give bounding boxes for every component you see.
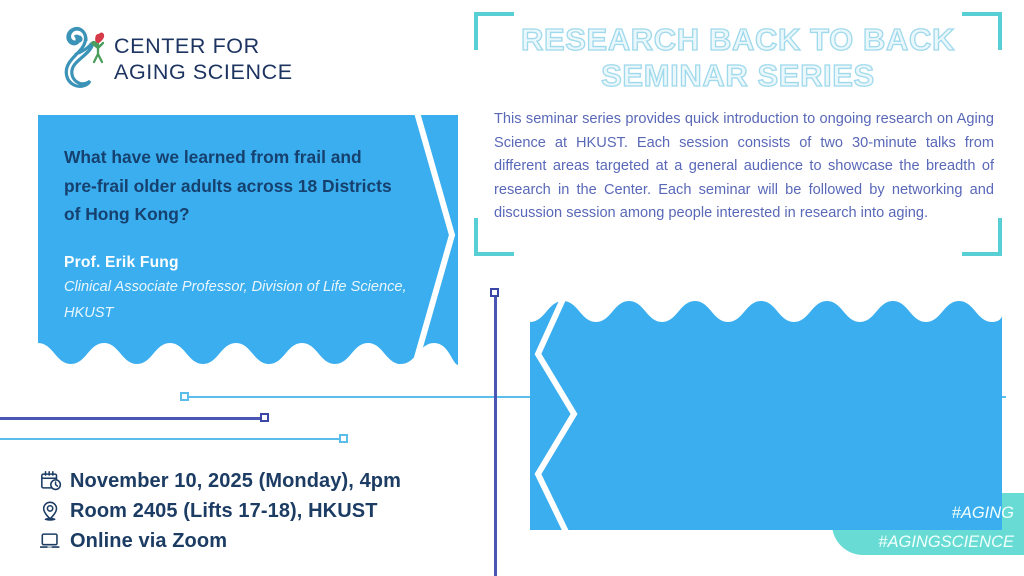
- event-online-text: Online via Zoom: [70, 530, 227, 553]
- hashtag-line-2: #AGINGSCIENCE: [832, 528, 1014, 557]
- event-detail-online: Online via Zoom: [40, 526, 480, 556]
- location-pin-icon: [40, 498, 70, 524]
- talk-panel-right: [530, 296, 1002, 530]
- decor-node-upper: [180, 392, 189, 401]
- decor-node-vertical: [490, 288, 499, 297]
- event-detail-venue: Room 2405 (Lifts 17-18), HKUST: [40, 496, 480, 526]
- hashtag-text: #AGING #AGINGSCIENCE: [832, 499, 1014, 557]
- decor-line-lower: [0, 438, 343, 440]
- decor-node-middle: [260, 413, 269, 422]
- talk-1-speaker-block: Prof. Erik Fung Clinical Associate Profe…: [64, 251, 409, 326]
- series-description: This seminar series provides quick intro…: [494, 108, 994, 226]
- center-for-aging-science-logo: CENTER FOR AGING SCIENCE: [56, 18, 356, 102]
- talk-1-title: What have we learned from frail and pre-…: [64, 143, 394, 229]
- page-title: RESEARCH BACK TO BACK SEMINAR SERIES: [474, 22, 1002, 94]
- page-title-line-2: SEMINAR SERIES: [474, 58, 1002, 94]
- event-venue-text: Room 2405 (Lifts 17-18), HKUST: [70, 500, 378, 523]
- logo-line-1: CENTER FOR: [114, 33, 293, 59]
- talk-1-speaker-name: Prof. Erik Fung: [64, 251, 409, 275]
- event-detail-date: November 10, 2025 (Monday), 4pm: [40, 466, 480, 496]
- logo-wordmark: CENTER FOR AGING SCIENCE: [114, 33, 293, 85]
- calendar-clock-icon: [40, 468, 70, 494]
- event-details: November 10, 2025 (Monday), 4pm Room 240…: [40, 466, 480, 556]
- logo-line-2: AGING SCIENCE: [114, 59, 293, 85]
- decor-node-lower: [339, 434, 348, 443]
- seminar-poster: CENTER FOR AGING SCIENCE RESEARCH BACK T…: [0, 0, 1024, 576]
- page-title-line-1: RESEARCH BACK TO BACK: [474, 22, 1002, 58]
- hashtag-line-1: #AGING: [832, 499, 1014, 528]
- aging-figures-heart-logo-icon: [56, 18, 112, 98]
- decor-line-middle: [0, 417, 265, 420]
- decor-line-vertical: [494, 292, 497, 576]
- event-date-text: November 10, 2025 (Monday), 4pm: [70, 470, 401, 493]
- laptop-icon: [40, 528, 70, 554]
- talk-1-speaker-affiliation: Clinical Associate Professor, Division o…: [64, 275, 409, 326]
